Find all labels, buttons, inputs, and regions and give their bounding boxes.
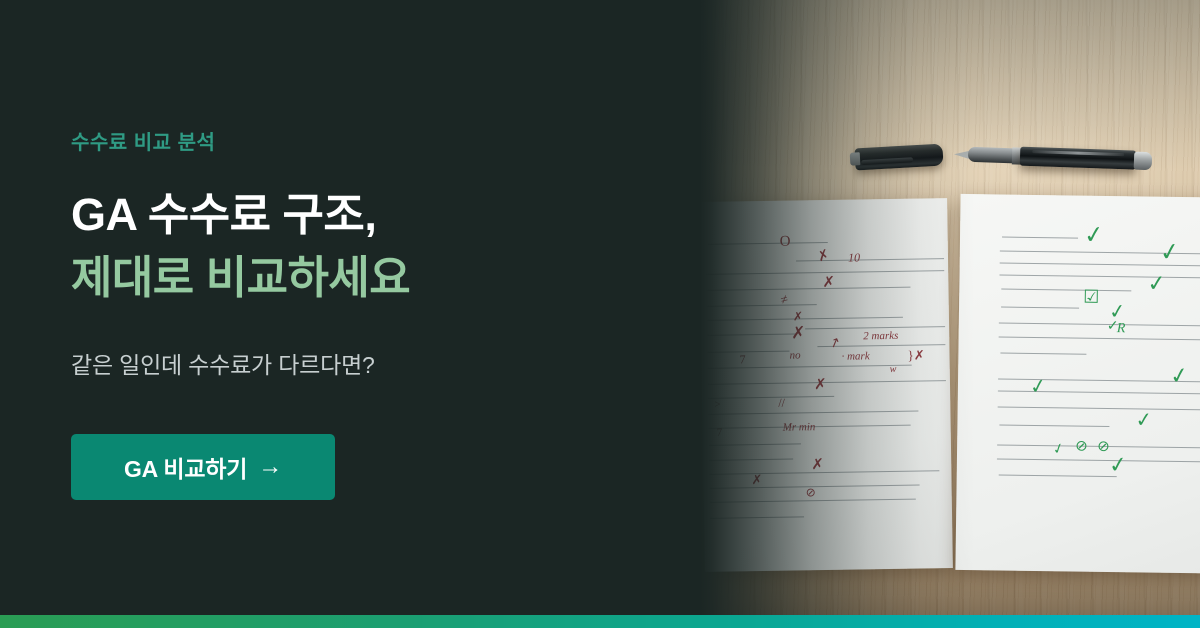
- headline-line-2: 제대로 비교하세요: [71, 246, 410, 309]
- photo-top-vignette: [690, 0, 1200, 170]
- compare-ga-button[interactable]: GA 비교하기 →: [71, 434, 335, 500]
- eyebrow-label: 수수료 비교 분석: [71, 126, 215, 155]
- arrow-right-icon: →: [258, 455, 282, 479]
- bottom-accent-bar: [0, 615, 1200, 628]
- banner-content: 수수료 비교 분석 GA 수수료 구조, 제대로 비교하세요 같은 일인데 수수…: [71, 0, 631, 628]
- promo-banner: O ✗ 10 ✗ ≠ ✗ ✗ ↗ 2 marks no · mark }✗ w …: [0, 0, 1200, 628]
- compare-ga-button-label: GA 비교하기: [124, 450, 247, 484]
- page-title: GA 수수료 구조, 제대로 비교하세요: [71, 183, 410, 309]
- subtitle-text: 같은 일인데 수수료가 다르다면?: [71, 346, 375, 380]
- headline-line-1: GA 수수료 구조,: [71, 183, 410, 246]
